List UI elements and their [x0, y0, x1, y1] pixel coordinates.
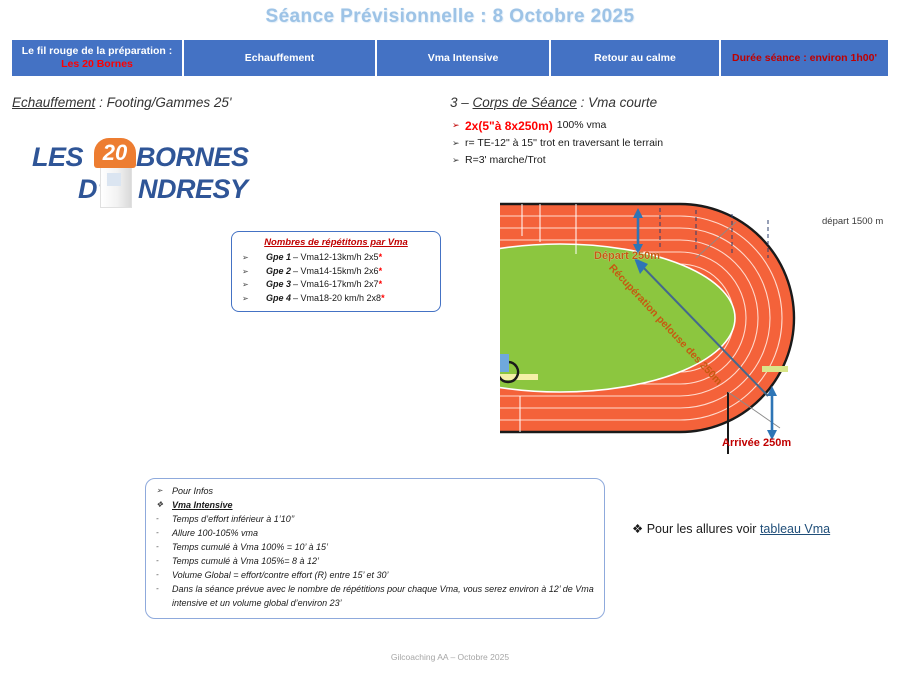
- info-box-vma-intensive: ➢ Pour Infos ❖ Vma Intensive - Temps d’e…: [145, 478, 605, 619]
- info-row-seance-prevue: - Dans la séance prévue avec le nombre d…: [156, 583, 594, 611]
- repetitions-row-gpe3: ➢ Gpe 3 – Vma16-17km/h 2x7 *: [238, 278, 434, 292]
- logo-les-20-bornes-dandresy: LES BORNES D' NDRESY 20: [28, 136, 268, 208]
- echauffement-heading-underlined: Echauffement: [12, 95, 95, 110]
- repetitions-row-gpe1-star: *: [379, 251, 383, 265]
- dash-bullet-icon: -: [156, 527, 172, 539]
- logo-text-ndresy: NDRESY: [138, 174, 248, 205]
- infield-long-jump-pit: [500, 374, 538, 380]
- tableau-vma-link[interactable]: tableau Vma: [760, 522, 830, 536]
- header-cell-fil-rouge-sub: Les 20 Bornes: [61, 58, 133, 71]
- dash-bullet-icon: -: [156, 513, 172, 525]
- info-row-temps-effort: - Temps d’effort inférieur à 1’10’’: [156, 513, 594, 527]
- track-svg: [500, 196, 900, 454]
- repetitions-row-gpe4-star: *: [381, 292, 385, 306]
- track-label-arrivee-250: Arrivée 250m: [722, 437, 791, 449]
- logo-text-bornes: BORNES: [136, 142, 249, 173]
- repetitions-row-gpe2-star: *: [379, 265, 383, 279]
- info-row-volume-global-text: Volume Global = effort/contre effort (R)…: [172, 569, 594, 583]
- arrow-bullet-icon: ➢: [238, 293, 266, 305]
- header-cell-vma-intensive-label: Vma Intensive: [428, 52, 499, 65]
- diamond-bullet-icon: ❖: [156, 499, 172, 511]
- dash-bullet-icon: -: [156, 541, 172, 553]
- corps-item-main-text: 100% vma: [557, 118, 607, 133]
- header-cell-fil-rouge: Le fil rouge de la préparation : Les 20 …: [11, 39, 183, 77]
- header-cell-duree-label: Durée séance : environ 1h00': [732, 52, 877, 65]
- repetitions-row-gpe3-group: Gpe 3: [266, 278, 291, 292]
- corps-item-series-recovery: ➢ R=3' marche/Trot: [452, 153, 782, 168]
- arrow-bullet-icon: ➢: [238, 279, 266, 291]
- repetitions-row-gpe4-text: – Vma18-20 km/h 2x8: [293, 292, 381, 306]
- footer-credit: Gilcoaching AA – Octobre 2025: [0, 652, 900, 662]
- header-cell-retour-au-calme-label: Retour au calme: [594, 52, 676, 65]
- info-row-temps-effort-text: Temps d’effort inférieur à 1’10’’: [172, 513, 594, 527]
- info-row-temps-cumule-100-text: Temps cumulé à Vma 100% = 10’ à 15’: [172, 541, 594, 555]
- info-row-pour-infos: ➢ Pour Infos: [156, 485, 594, 499]
- corps-item-series-recovery-text: R=3' marche/Trot: [465, 153, 546, 168]
- diamond-bullet-icon: ❖: [632, 522, 643, 536]
- corps-item-main-highlight: 2x(5"à 8x250m): [465, 118, 553, 135]
- repetitions-title: Nombres de répétitons par Vma: [238, 237, 434, 248]
- corps-heading-prefix: 3 –: [450, 95, 473, 110]
- allures-note-text: Pour les allures voir: [647, 522, 760, 536]
- track-label-depart-250: Départ 250m: [594, 250, 660, 262]
- page-title: Séance Prévisionnelle : 8 Octobre 2025: [0, 6, 900, 28]
- info-row-volume-global: - Volume Global = effort/contre effort (…: [156, 569, 594, 583]
- arrow-bullet-icon: ➢: [452, 136, 465, 150]
- dash-bullet-icon: -: [156, 583, 172, 595]
- echauffement-heading: Echauffement : Footing/Gammes 25': [12, 95, 231, 110]
- logo-text-les: LES: [32, 142, 83, 173]
- session-header-table: Le fil rouge de la préparation : Les 20 …: [11, 39, 889, 77]
- info-row-temps-cumule-105-text: Temps cumulé à Vma 105%= 8 à 12’: [172, 555, 594, 569]
- corps-item-main: ➢ 2x(5"à 8x250m) 100% vma: [452, 118, 782, 135]
- repetitions-row-gpe1: ➢ Gpe 1 – Vma12-13km/h 2x5 *: [238, 251, 434, 265]
- milestone-marker-icon: 20: [94, 138, 136, 206]
- repetitions-box: Nombres de répétitons par Vma ➢ Gpe 1 – …: [231, 231, 441, 312]
- infield-secondary-pit: [762, 366, 788, 372]
- repetitions-row-gpe1-text: – Vma12-13km/h 2x5: [293, 251, 379, 265]
- track-label-depart-1500: départ 1500 m: [822, 216, 883, 227]
- repetitions-row-gpe2-text: – Vma14-15km/h 2x6: [293, 265, 379, 279]
- header-cell-duree: Durée séance : environ 1h00': [720, 39, 889, 77]
- corps-de-seance-list: ➢ 2x(5"à 8x250m) 100% vma ➢ r= TE-12" à …: [452, 118, 782, 169]
- repetitions-row-gpe2-group: Gpe 2: [266, 265, 291, 279]
- corps-item-recovery: ➢ r= TE-12" à 15'' trot en traversant le…: [452, 136, 782, 151]
- arrow-bullet-icon: ➢: [452, 118, 465, 132]
- corps-heading-underlined: Corps de Séance: [473, 95, 577, 110]
- info-row-temps-cumule-100: - Temps cumulé à Vma 100% = 10’ à 15’: [156, 541, 594, 555]
- repetitions-row-gpe3-star: *: [379, 278, 383, 292]
- repetitions-row-gpe2: ➢ Gpe 2 – Vma14-15km/h 2x6 *: [238, 265, 434, 279]
- repetitions-row-gpe4-group: Gpe 4: [266, 292, 291, 306]
- info-row-vma-intensive: ❖ Vma Intensive: [156, 499, 594, 513]
- arrow-bullet-icon: ➢: [238, 252, 266, 264]
- repetitions-row-gpe4: ➢ Gpe 4 – Vma18-20 km/h 2x8 *: [238, 292, 434, 306]
- allures-note: ❖ Pour les allures voir tableau Vma: [632, 521, 830, 536]
- info-row-temps-cumule-105: - Temps cumulé à Vma 105%= 8 à 12’: [156, 555, 594, 569]
- info-row-seance-prevue-text: Dans la séance prévue avec le nombre de …: [172, 583, 594, 611]
- arrow-bullet-icon: ➢: [238, 266, 266, 278]
- corps-item-recovery-text: r= TE-12" à 15'' trot en traversant le t…: [465, 136, 663, 151]
- arrow-bullet-icon: ➢: [452, 153, 465, 167]
- milestone-number: 20: [94, 139, 136, 167]
- info-row-vma-intensive-text: Vma Intensive: [172, 499, 594, 513]
- infield-marker-blue: [500, 354, 509, 372]
- echauffement-heading-rest: : Footing/Gammes 25': [95, 95, 231, 110]
- header-cell-retour-au-calme: Retour au calme: [550, 39, 720, 77]
- athletics-track-diagram: Départ 250m Arrivée 250m départ 1500 m R…: [500, 196, 900, 454]
- corps-de-seance-heading: 3 – Corps de Séance : Vma courte: [450, 95, 657, 110]
- info-row-pour-infos-text: Pour Infos: [172, 485, 594, 499]
- corps-heading-rest: : Vma courte: [577, 95, 657, 110]
- arrow-bullet-icon: ➢: [156, 485, 172, 497]
- repetitions-row-gpe3-text: – Vma16-17km/h 2x7: [293, 278, 379, 292]
- header-cell-echauffement: Echauffement: [183, 39, 376, 77]
- dash-bullet-icon: -: [156, 555, 172, 567]
- header-cell-vma-intensive: Vma Intensive: [376, 39, 550, 77]
- header-cell-echauffement-label: Echauffement: [245, 52, 314, 65]
- dash-bullet-icon: -: [156, 569, 172, 581]
- header-cell-fil-rouge-label: Le fil rouge de la préparation :: [22, 45, 173, 58]
- info-row-allure: - Allure 100-105% vma: [156, 527, 594, 541]
- info-row-allure-text: Allure 100-105% vma: [172, 527, 594, 541]
- repetitions-row-gpe1-group: Gpe 1: [266, 251, 291, 265]
